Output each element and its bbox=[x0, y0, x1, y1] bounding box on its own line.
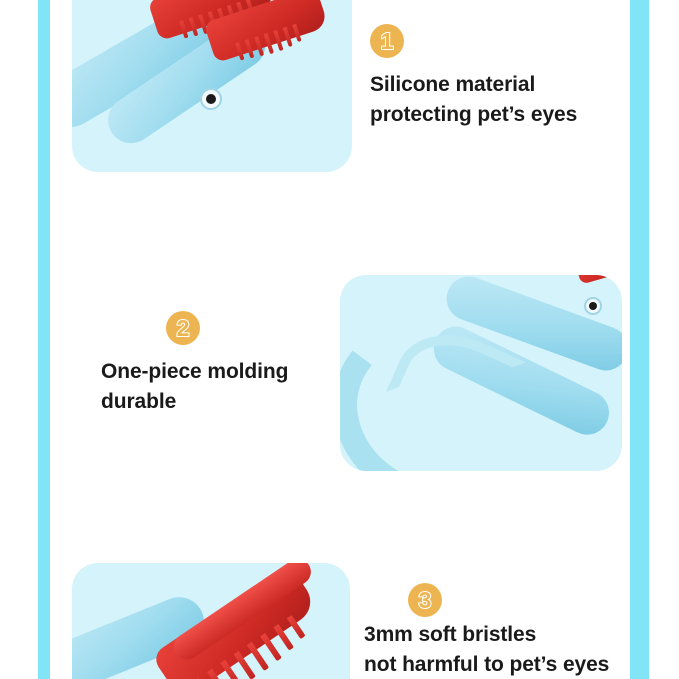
feature-badge-3: 3 bbox=[408, 583, 442, 617]
feature-badge-2: 2 bbox=[166, 311, 200, 345]
feature-caption-3: 3mm soft bristles not harmful to pet’s e… bbox=[364, 620, 664, 679]
frame-rail-left bbox=[38, 0, 50, 679]
feature-image-2 bbox=[340, 275, 622, 471]
feature-caption-2: One-piece molding durable bbox=[101, 357, 341, 417]
feature-badge-1: 1 bbox=[370, 24, 404, 58]
feature-caption-1: Silicone material protecting pet’s eyes bbox=[370, 70, 630, 130]
feature-image-1 bbox=[72, 0, 352, 172]
feature-image-3 bbox=[72, 563, 350, 679]
frame-rail-right bbox=[630, 0, 649, 679]
product-feature-infographic: 1 Silicone material protecting pet’s eye… bbox=[0, 0, 679, 679]
